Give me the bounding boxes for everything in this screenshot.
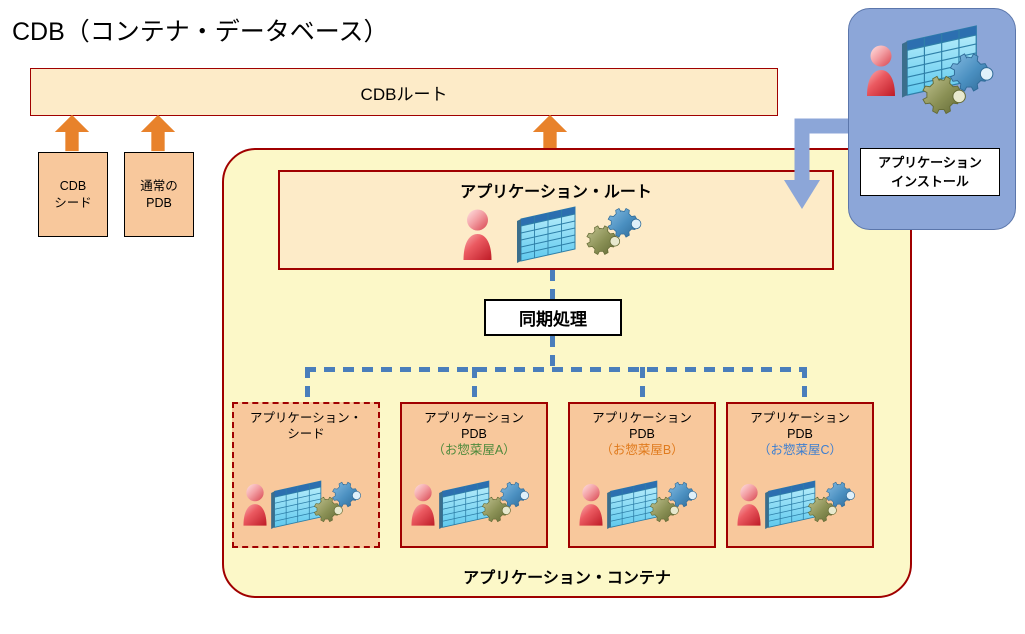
gears-icon [323,480,371,530]
application-pdb-b-title: アプリケーション PDB [570,410,714,442]
person-icon [735,482,763,528]
table-grid-icon [607,481,657,529]
application-pdb-b-subtitle: （お惣菜屋B） [570,442,714,458]
gears-icon [817,480,865,530]
connector-root-to-sync [550,270,555,300]
diagram-canvas: CDB（コンテナ・データベース） CDBルート CDB シード 通常の PDB … [0,0,1025,634]
table-grid-icon [439,481,489,529]
connector-drop-pdb-a [472,367,477,403]
connector-bus [305,367,807,372]
application-seed-title: アプリケーション・ シード [234,410,378,442]
gears-icon [597,206,653,264]
application-root-label: アプリケーション・ルート [278,178,834,202]
application-pdb-a-title: アプリケーション PDB [402,410,546,442]
application-pdb-b-icons [570,472,714,538]
application-pdb-a-icons [402,472,546,538]
application-install-icons [856,22,1008,137]
install-composite-icon [858,24,1006,136]
application-pdb-a-box: アプリケーション PDB （お惣菜屋A） [400,402,548,548]
application-seed-box: アプリケーション・ シード [232,402,380,548]
gears-icon [491,480,539,530]
table-grid-icon [271,481,321,529]
orange-up-arrow-icon [52,113,92,153]
connector-sync-to-bus [550,336,555,368]
orange-up-arrow-icon [530,113,570,153]
person-icon [409,482,437,528]
connector-drop-seed [305,367,310,403]
cdb-seed-box: CDB シード [38,152,108,237]
page-title: CDB（コンテナ・データベース） [12,12,389,48]
connector-drop-pdb-c [802,367,807,403]
application-pdb-c-title: アプリケーション PDB [728,410,872,442]
application-pdb-a-subtitle: （お惣菜屋A） [402,442,546,458]
connector-drop-pdb-b [640,367,645,403]
orange-up-arrow-icon [138,113,178,153]
application-container-label: アプリケーション・コンテナ [222,562,912,590]
application-pdb-c-icons [728,472,872,538]
application-install-label: アプリケーション インストール [860,148,1000,196]
application-pdb-c-box: アプリケーション PDB （お惣菜屋C） [726,402,874,548]
cdb-root-label: CDBルート [31,69,777,115]
application-seed-icons [234,472,378,538]
person-icon [577,482,605,528]
application-root-icons [440,204,672,266]
application-pdb-c-subtitle: （お惣菜屋C） [728,442,872,458]
table-grid-icon [765,481,815,529]
person-icon [241,482,269,528]
normal-pdb-box: 通常の PDB [124,152,194,237]
cdb-root-box: CDBルート [30,68,778,116]
table-grid-icon [517,207,575,263]
gears-icon [659,480,707,530]
person-icon [460,208,495,262]
sync-process-box: 同期処理 [484,299,622,336]
application-pdb-b-box: アプリケーション PDB （お惣菜屋B） [568,402,716,548]
